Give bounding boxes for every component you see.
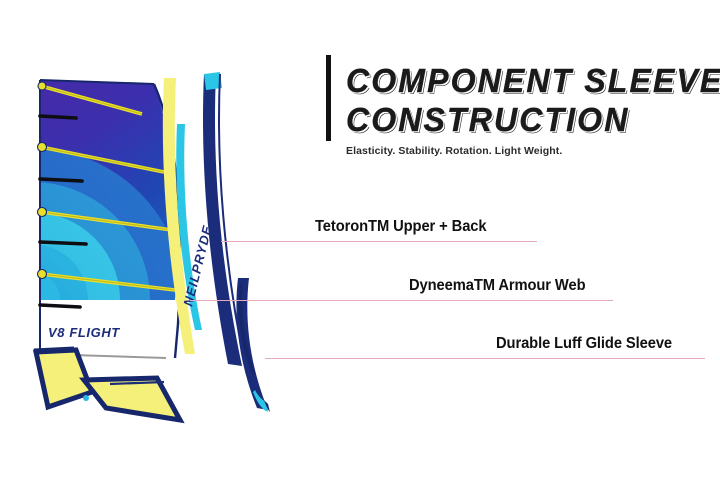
leech-tab-4 xyxy=(40,305,80,307)
callout-label-durable-luff-glide-sleeve: Durable Luff Glide Sleeve xyxy=(496,335,672,353)
windsurf-sail-illustration: V8 FLIGHT xyxy=(14,62,304,427)
callout-leader-line-3 xyxy=(265,358,705,359)
leech-tab-2 xyxy=(40,179,82,181)
title-vertical-rule xyxy=(326,55,331,141)
callout-label-tetoron-upper-back: TetoronTM Upper + Back xyxy=(315,218,487,236)
batten-3-cam xyxy=(38,208,47,217)
leech-tab-3 xyxy=(40,242,86,244)
page-title-line-1: COMPONENT SLEEVE xyxy=(346,64,720,97)
callout-leader-line-1 xyxy=(221,241,537,242)
title-block: COMPONENT SLEEVE CONSTRUCTION Elasticity… xyxy=(326,55,706,160)
foot-clew-strap xyxy=(34,349,74,351)
component-sleeve-construction-infographic: V8 FLIGHT xyxy=(0,0,720,480)
callout-label-dyneema-armour-web: DyneemaTM Armour Web xyxy=(409,277,585,295)
sail-model-text: V8 FLIGHT xyxy=(48,325,120,340)
sail-foot-panels xyxy=(34,349,180,420)
callout-leader-line-2 xyxy=(190,300,613,301)
batten-1-cam xyxy=(38,82,46,90)
page-subtitle: Elasticity. Stability. Rotation. Light W… xyxy=(346,145,562,157)
page-title-line-2: CONSTRUCTION xyxy=(346,103,629,136)
sail-svg: V8 FLIGHT xyxy=(14,62,304,427)
batten-2-cam xyxy=(38,143,47,152)
batten-4-cam xyxy=(38,270,47,279)
foot-panel-2 xyxy=(84,378,180,420)
foot-tack-eyelet xyxy=(83,395,89,401)
leech-tab-1 xyxy=(40,116,76,118)
